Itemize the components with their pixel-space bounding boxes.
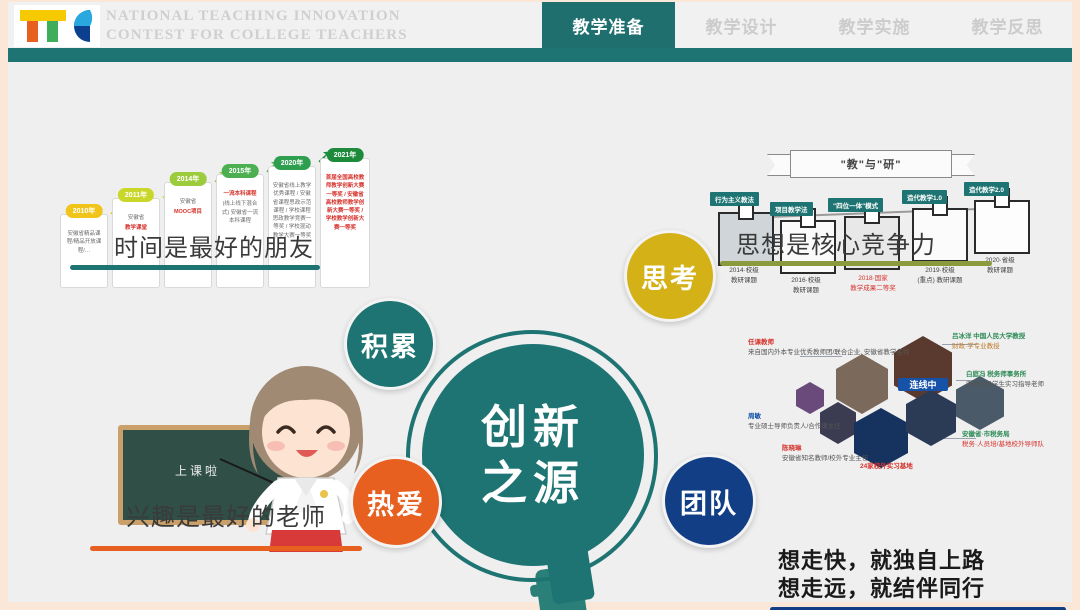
team-status-badge: 连线中 — [898, 378, 948, 391]
keyword-circle-accumulate[interactable]: 积累 — [344, 298, 436, 390]
timeline-step: 2010年 安徽省精品课程/精品开放课程/… — [60, 214, 108, 288]
caption-time-rule — [70, 265, 320, 270]
timeline-step-text: 安徽省 — [125, 203, 148, 222]
timeline-step-highlight: MOOC项目 — [171, 206, 205, 216]
keyword-circle-team[interactable]: 团队 — [662, 454, 756, 548]
tk-logo — [14, 5, 100, 47]
timeline-year-badge: 2014年 — [170, 172, 207, 186]
keyword-label: 热爱 — [367, 483, 425, 522]
card-tag: 项目教学法 — [770, 202, 813, 216]
blackboard-text: 上课啦 — [175, 462, 220, 479]
team-note: 任课教师 来自国内外本专业优秀教师团/联合企业, 安徽省教学名师 — [748, 338, 909, 358]
team-note: 周敏 专业硕士导师负责人/合作课主任 — [748, 412, 841, 432]
center-title-line-2: 之源 — [481, 455, 585, 511]
timeline-year-badge: 2011年 — [118, 188, 154, 202]
caption-interest-rule — [90, 546, 362, 551]
hanging-card — [974, 200, 1030, 254]
clothesline-banner: "教"与"研" — [790, 150, 952, 178]
team-photo — [796, 382, 824, 414]
card-tag: 行为主义教法 — [710, 192, 759, 206]
magnifier-lens: 创新 之源 — [422, 344, 644, 566]
timeline-year-badge: 2010年 — [66, 204, 103, 218]
keyword-label: 思考 — [641, 257, 699, 296]
caption-thought-rule — [720, 261, 992, 266]
timeline-step-highlight: 一流本科课程 — [220, 179, 259, 198]
timeline-step: 2021年 首届全国高校教师教学创新大赛一等奖 / 安徽省高校教师教学创新大赛一… — [320, 158, 370, 288]
keyword-label: 团队 — [680, 482, 738, 521]
brand-line-1: NATIONAL TEACHING INNOVATION — [106, 7, 526, 26]
tab-bar: 教学准备 教学设计 教学实施 教学反思 — [542, 2, 1074, 48]
team-note: 24家校外实习基地 — [860, 462, 913, 472]
tab-teaching-reflection[interactable]: 教学反思 — [941, 2, 1074, 48]
caption-time: 时间是最好的朋友 — [114, 228, 314, 263]
timeline-step-text: 首届全国高校教师教学创新大赛一等奖 / 安徽省高校教师教学创新大赛一等奖 / 学… — [321, 163, 369, 232]
caption-interest: 兴趣是最好的老师 — [126, 497, 326, 532]
timeline-year-badge: 2020年 — [274, 156, 311, 170]
brand-line-2: CONTEST FOR COLLEGE TEACHERS — [106, 26, 526, 45]
card-tag: 造代教学2.0 — [964, 182, 1009, 196]
team-slogan: 想走快，就独自上路 想走远，就结伴同行 — [778, 547, 985, 603]
timeline-step-text: (线上线下混合式) 安徽省一流本科课程 — [217, 198, 263, 225]
brand-text: NATIONAL TEACHING INNOVATION CONTEST FOR… — [106, 7, 526, 47]
card-tag: "四位一体"模式 — [828, 198, 883, 212]
slide-canvas: NATIONAL TEACHING INNOVATION CONTEST FOR… — [0, 0, 1080, 610]
app-header: NATIONAL TEACHING INNOVATION CONTEST FOR… — [8, 2, 1072, 48]
tab-teaching-implementation[interactable]: 教学实施 — [808, 2, 941, 48]
tab-teaching-design[interactable]: 教学设计 — [675, 2, 808, 48]
team-note: 安徽省·市税务局 税务·人员培/基地校外导师队 — [962, 430, 1044, 450]
timeline-year-badge: 2021年 — [327, 148, 364, 162]
team-note: 陈晓琳 安徽省知名教师/校外专业主任 — [782, 444, 868, 464]
keyword-circle-passion[interactable]: 热爱 — [350, 456, 442, 548]
header-accent-bar — [8, 48, 1072, 62]
team-slogan-line-1: 想走快，就独自上路 — [778, 547, 985, 575]
team-photo — [836, 354, 888, 414]
team-note: 白庭冯 税务师事务所 安徽税务学生实习指导老师 — [966, 370, 1044, 390]
team-slogan-line-2: 想走远，就结伴同行 — [778, 575, 985, 603]
timeline-step-text: 安徽省 — [177, 187, 200, 206]
timeline-step-text: 安徽省精品课程/精品开放课程/… — [61, 219, 107, 255]
timeline-year-badge: 2015年 — [222, 164, 259, 178]
keyword-circle-think[interactable]: 思考 — [624, 230, 716, 322]
team-note: 吕冰洋 中国人民大学教授 财政·学专业教授 — [952, 332, 1025, 352]
keyword-label: 积累 — [361, 325, 419, 364]
center-title-line-1: 创新 — [481, 399, 585, 455]
caption-thought: 思想是核心竞争力 — [736, 225, 936, 260]
tab-teaching-preparation[interactable]: 教学准备 — [542, 2, 675, 48]
slide-body: 2010年 安徽省精品课程/精品开放课程/… ➚ 2011年 安徽省 教学课堂 … — [8, 62, 1072, 602]
card-tag: 造代教学1.0 — [902, 190, 947, 204]
team-collage-graphic: 连线中 任课教师 来自国内外本专业优秀教师团/联合企业, 安徽省教学名师 周敏 … — [748, 334, 1048, 464]
